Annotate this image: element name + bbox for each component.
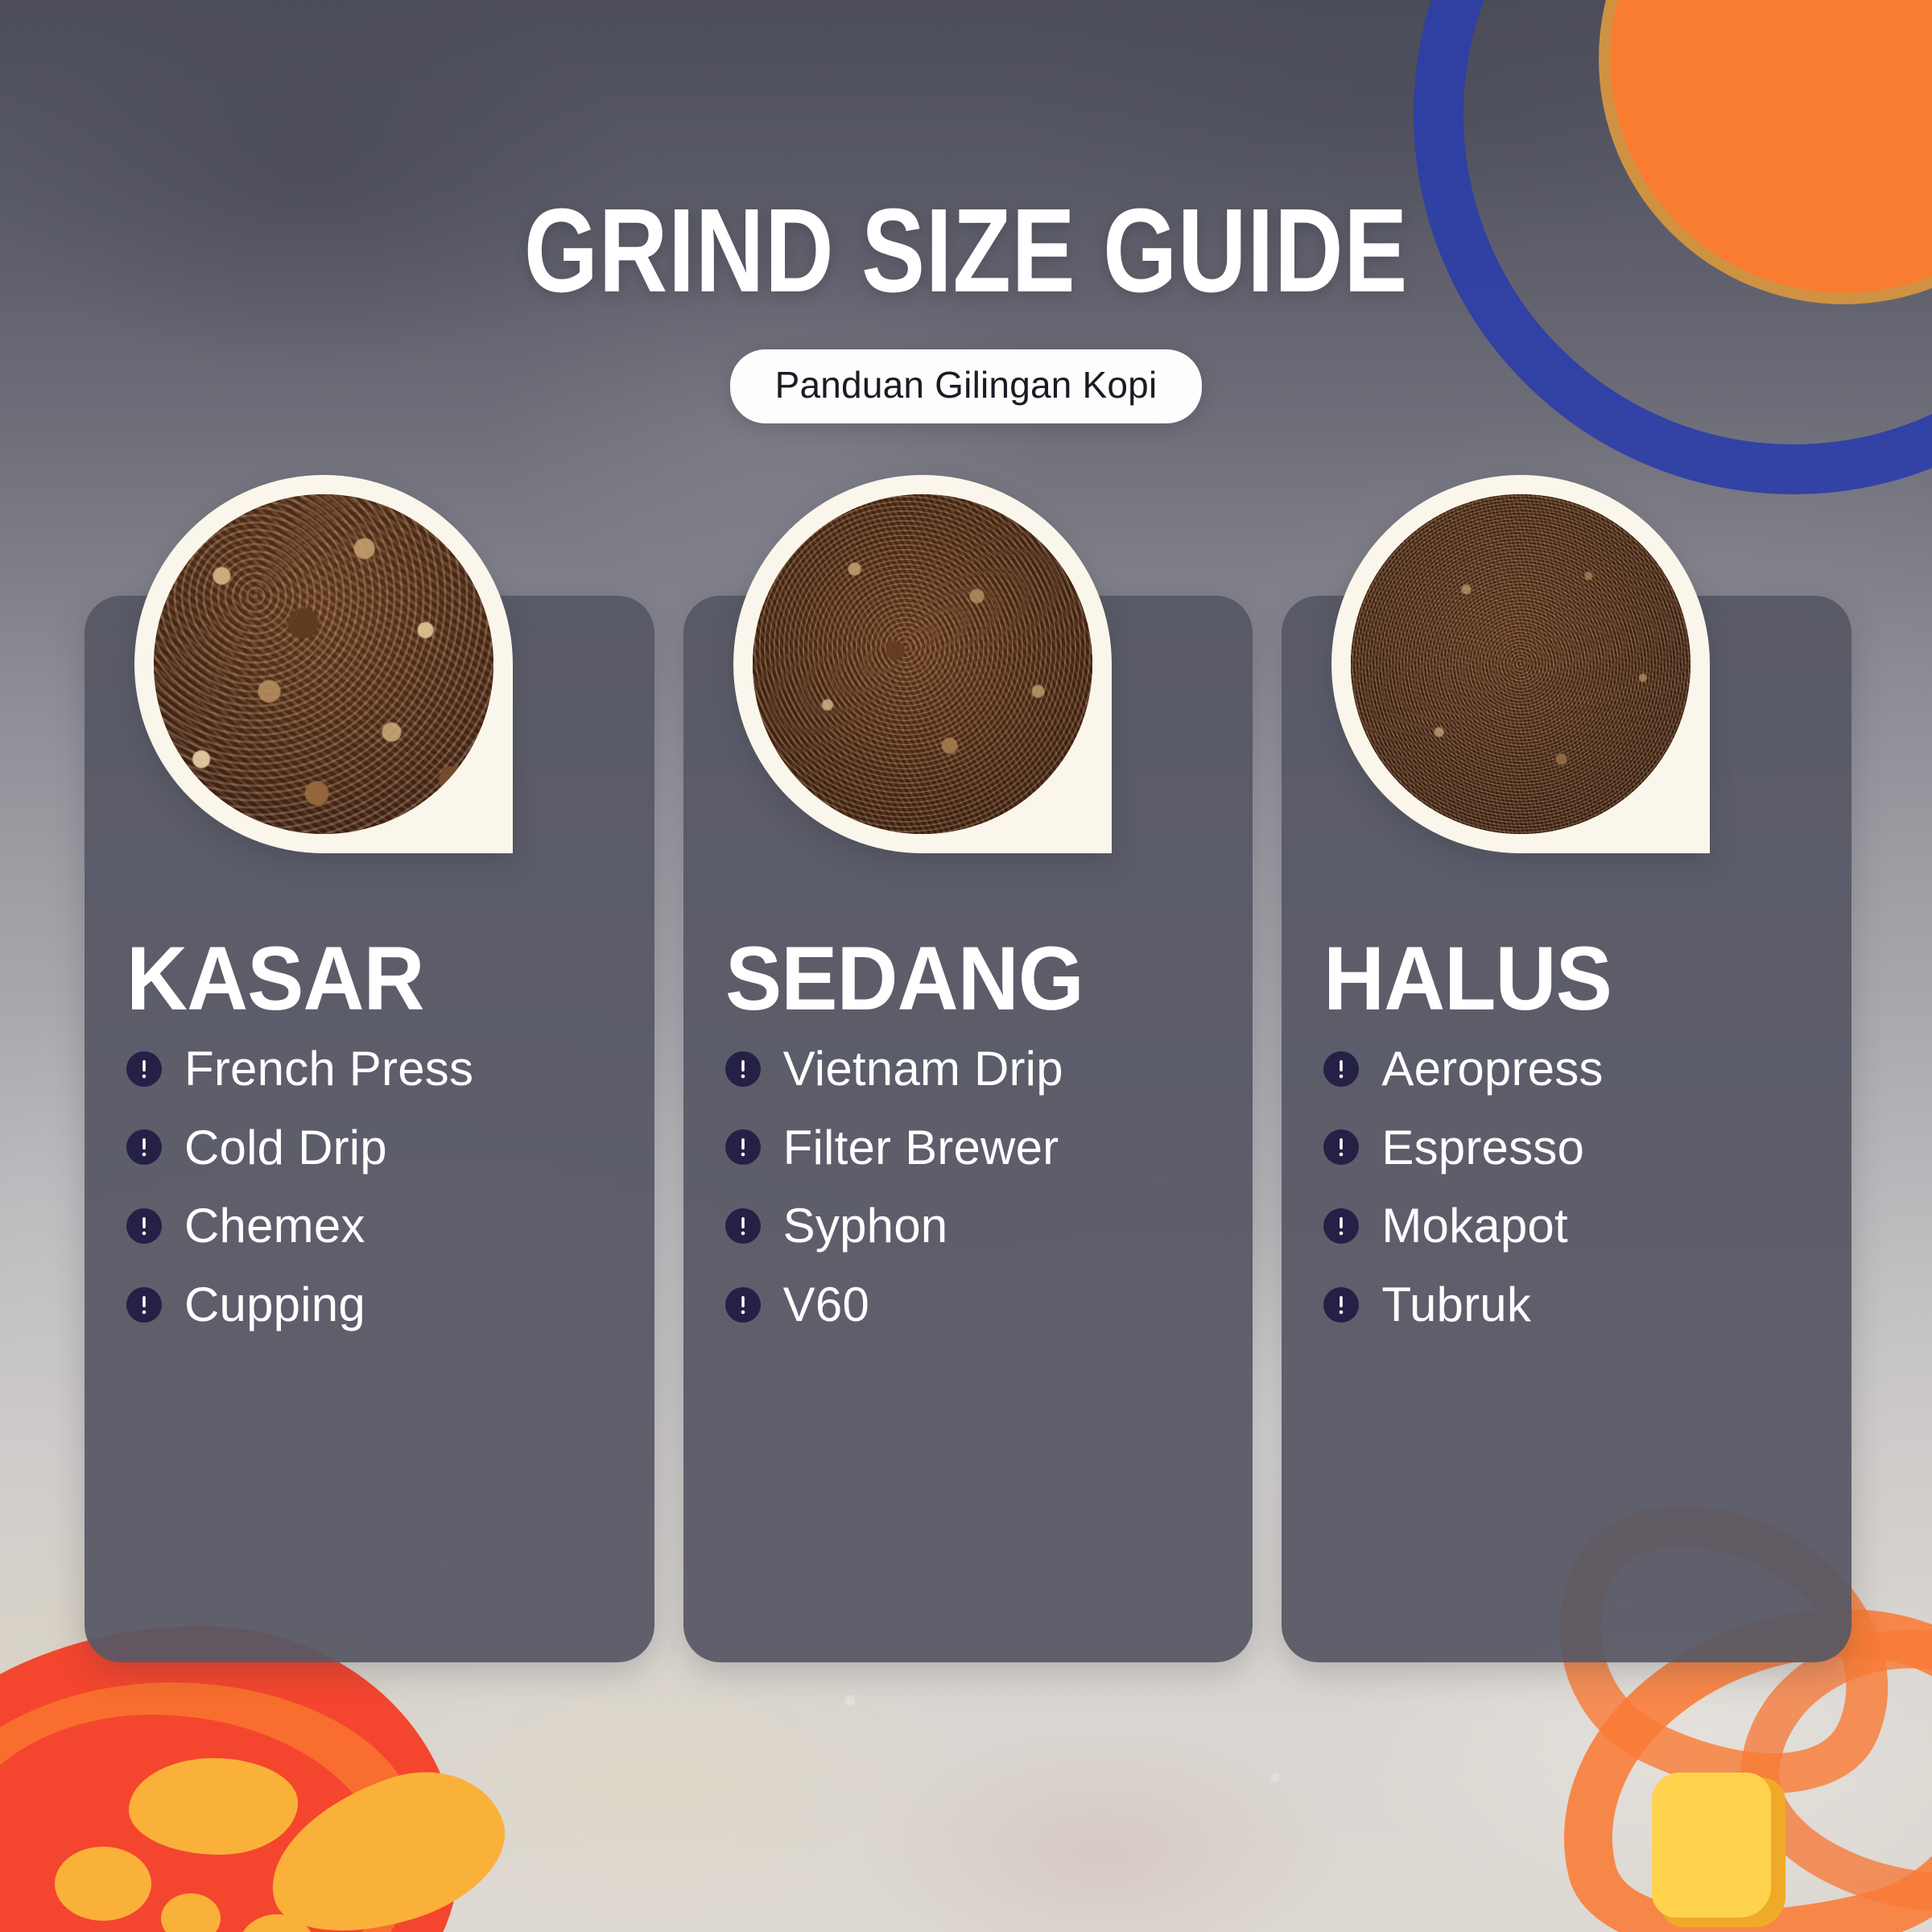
coarse-grind-photo [154, 494, 493, 834]
list-item: Syphon [725, 1200, 1221, 1252]
brew-method-label: Syphon [783, 1200, 948, 1252]
list-item: Aeropress [1323, 1043, 1819, 1095]
brew-method-list-kasar: French Press Cold Drip Chemex [126, 1043, 622, 1357]
exclamation-icon [1323, 1208, 1359, 1244]
grind-card-sedang: SEDANG Vietnam Drip Filter Brewer [683, 596, 1253, 1662]
brew-method-label: Vietnam Drip [783, 1043, 1063, 1095]
grind-card-kasar: KASAR French Press Cold Drip [85, 596, 654, 1662]
medium-grind-texture [753, 494, 1092, 834]
exclamation-icon [725, 1129, 761, 1165]
list-item: Filter Brewer [725, 1122, 1221, 1174]
exclamation-icon [126, 1208, 162, 1244]
brew-method-label: Espresso [1381, 1122, 1584, 1174]
card-title-kasar: KASAR [126, 934, 424, 1024]
list-item: Cold Drip [126, 1122, 622, 1174]
fine-grind-photo [1351, 494, 1690, 834]
brew-method-label: French Press [184, 1043, 473, 1095]
brew-method-label: Tubruk [1381, 1279, 1531, 1331]
exclamation-icon [725, 1051, 761, 1087]
grind-size-guide-poster: GRIND SIZE GUIDE Panduan Gilingan Kopi K… [0, 0, 1932, 1932]
brew-method-label: Mokapot [1381, 1200, 1568, 1252]
exclamation-icon [1323, 1129, 1359, 1165]
card-title-sedang: SEDANG [725, 934, 1084, 1024]
exclamation-icon [126, 1129, 162, 1165]
list-item: Vietnam Drip [725, 1043, 1221, 1095]
list-item: French Press [126, 1043, 622, 1095]
coarse-grind-badge [134, 475, 513, 853]
exclamation-icon [725, 1208, 761, 1244]
fine-grind-texture [1351, 494, 1690, 834]
card-title-halus: HALUS [1323, 934, 1612, 1024]
subtitle-pill: Panduan Gilingan Kopi [730, 349, 1203, 423]
exclamation-icon [1323, 1287, 1359, 1323]
brew-method-label: Cold Drip [184, 1122, 387, 1174]
list-item: V60 [725, 1279, 1221, 1331]
medium-grind-badge [733, 475, 1112, 853]
exclamation-icon [1323, 1051, 1359, 1087]
list-item: Chemex [126, 1200, 622, 1252]
list-item: Tubruk [1323, 1279, 1819, 1331]
medium-grind-photo [753, 494, 1092, 834]
brew-method-label: Filter Brewer [783, 1122, 1059, 1174]
list-item: Mokapot [1323, 1200, 1819, 1252]
exclamation-icon [126, 1051, 162, 1087]
brew-method-label: Chemex [184, 1200, 365, 1252]
grind-card-halus: HALUS Aeropress Espresso [1282, 596, 1851, 1662]
poster-header: GRIND SIZE GUIDE Panduan Gilingan Kopi [0, 0, 1932, 423]
list-item: Espresso [1323, 1122, 1819, 1174]
brew-method-list-sedang: Vietnam Drip Filter Brewer Syphon [725, 1043, 1221, 1357]
grind-card-row: KASAR French Press Cold Drip [85, 596, 1851, 1662]
brew-method-label: Cupping [184, 1279, 365, 1331]
fine-grind-badge [1331, 475, 1710, 853]
exclamation-icon [126, 1287, 162, 1323]
exclamation-icon [725, 1287, 761, 1323]
coarse-grind-texture [154, 494, 493, 834]
brew-method-label: Aeropress [1381, 1043, 1603, 1095]
page-title: GRIND SIZE GUIDE [193, 0, 1739, 311]
list-item: Cupping [126, 1279, 622, 1331]
brew-method-label: V60 [783, 1279, 869, 1331]
brew-method-list-halus: Aeropress Espresso Mokapot [1323, 1043, 1819, 1357]
